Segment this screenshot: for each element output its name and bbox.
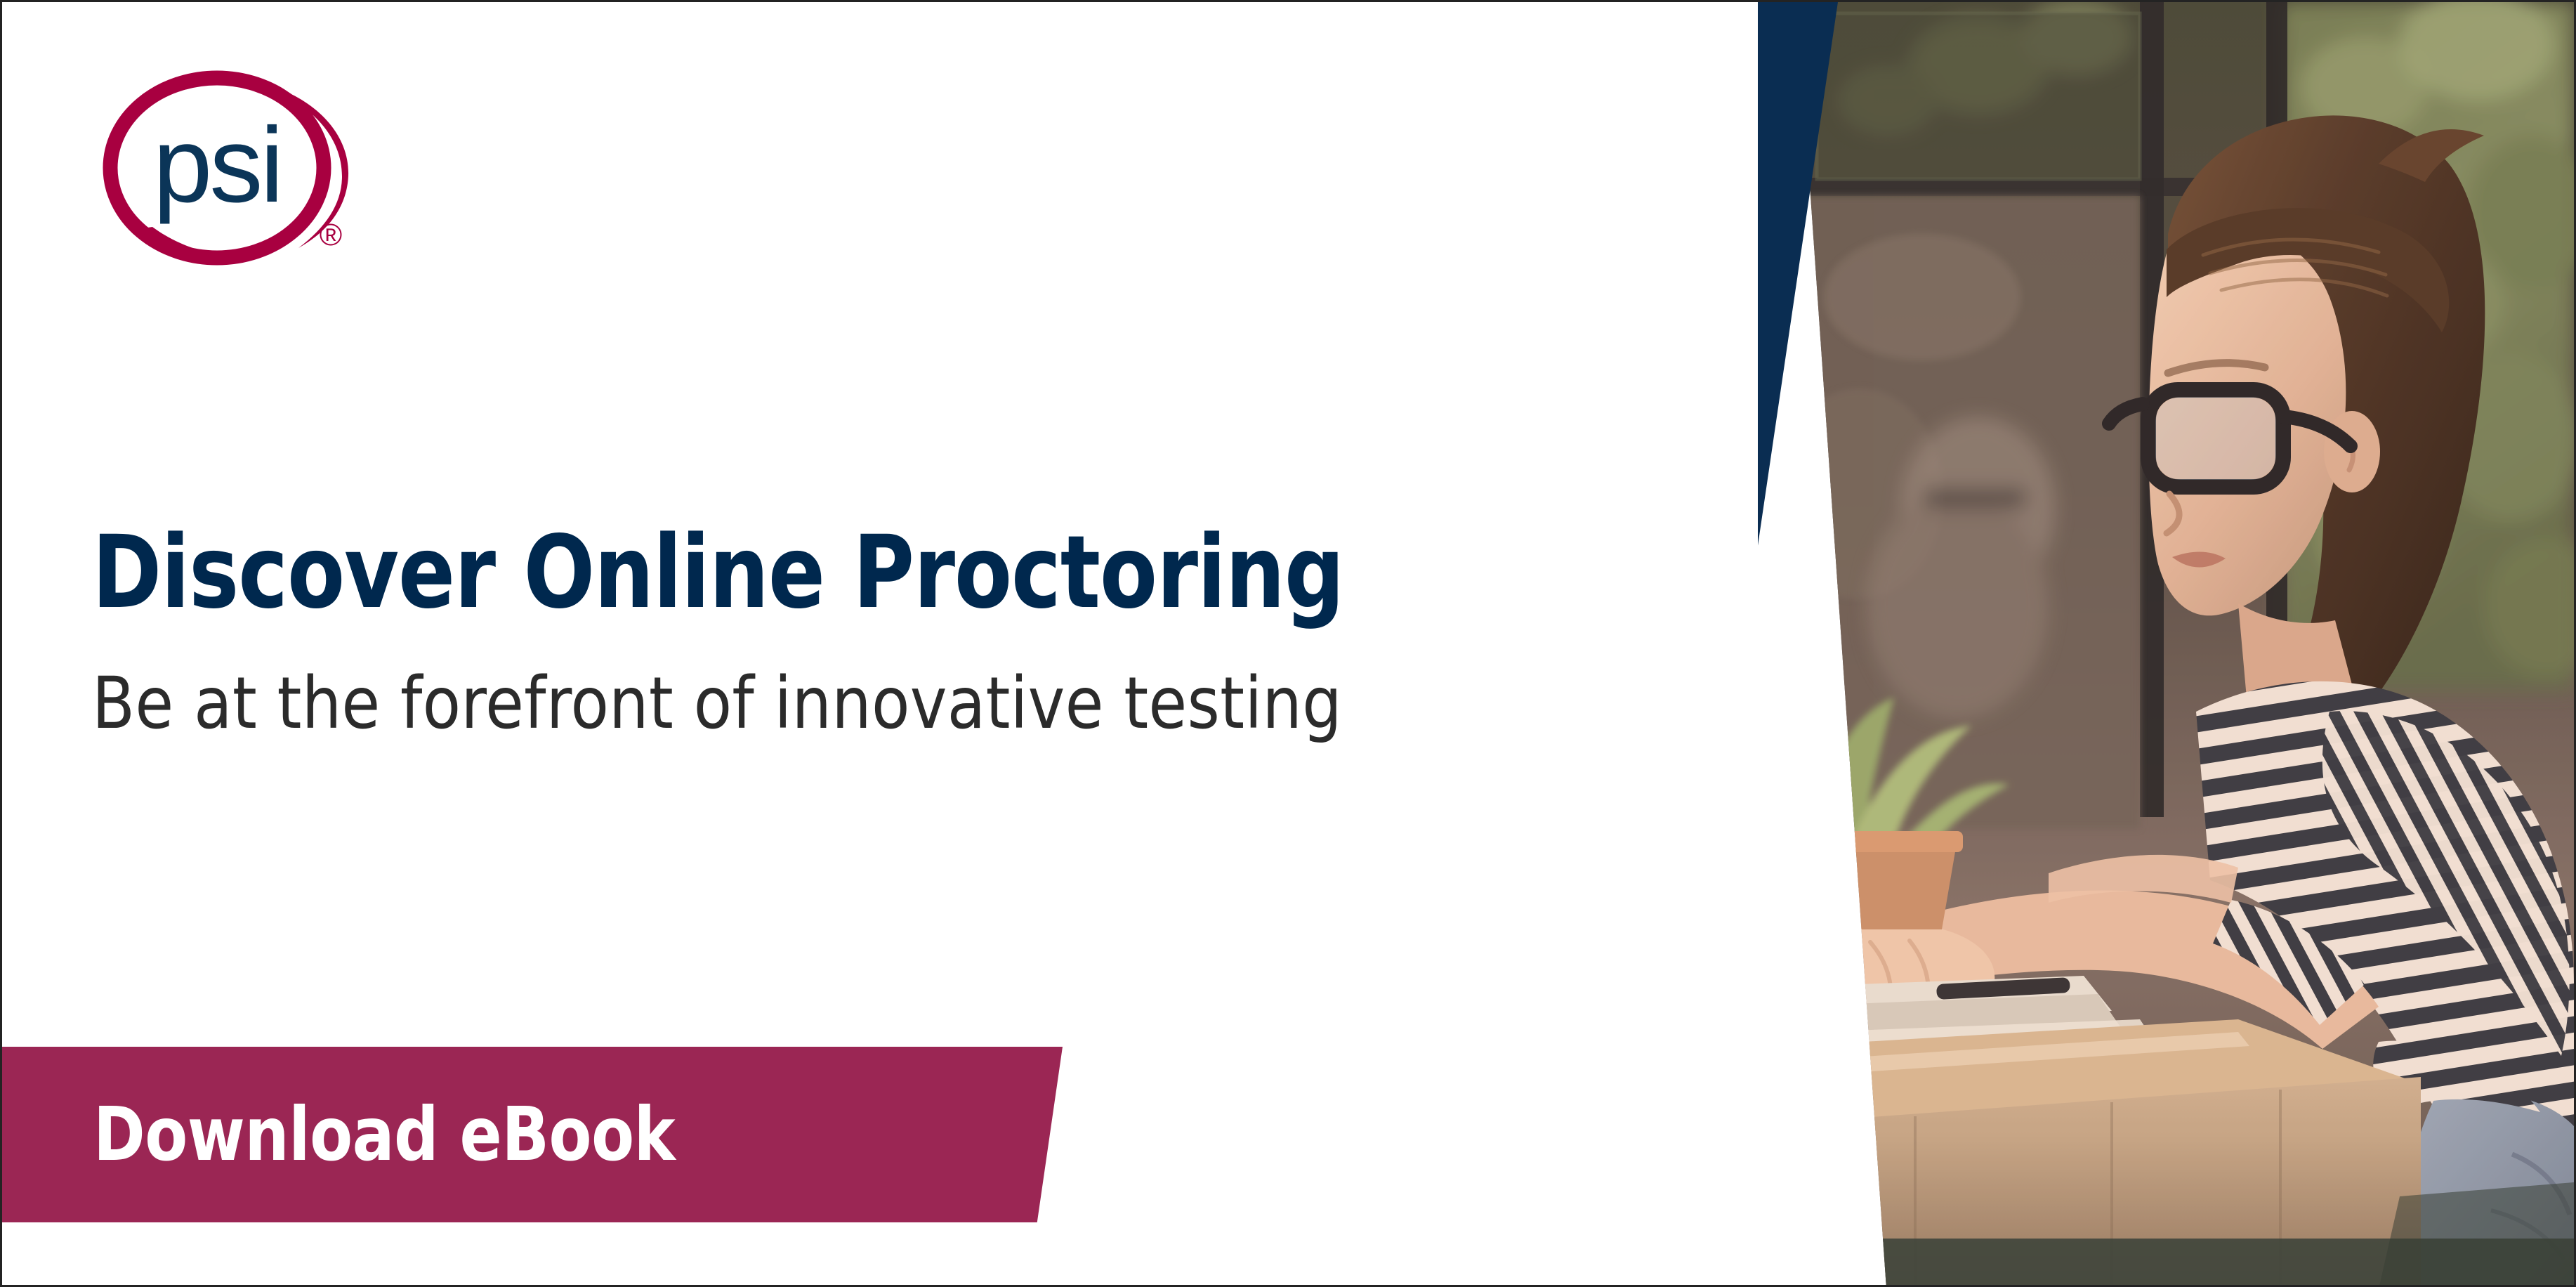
psi-logo-mark: psi ® bbox=[79, 64, 374, 275]
hero-photo bbox=[1747, 2, 2574, 1287]
psi-promo-banner: psi ® Discover Online Proctoring Be at t… bbox=[0, 0, 2576, 1287]
psi-logo[interactable]: psi ® bbox=[79, 64, 374, 275]
hero-photo-illustration bbox=[1747, 2, 2574, 1287]
content-panel: psi ® Discover Online Proctoring Be at t… bbox=[2, 2, 1758, 1285]
headline-block: Discover Online Proctoring Be at the for… bbox=[92, 522, 1672, 741]
page-subtitle: Be at the forefront of innovative testin… bbox=[92, 666, 1625, 741]
logo-registered-icon: ® bbox=[320, 218, 342, 252]
page-title: Discover Online Proctoring bbox=[92, 522, 1562, 622]
logo-wordmark: psi bbox=[153, 105, 281, 225]
download-ebook-button[interactable]: Download eBook bbox=[2, 1047, 1063, 1222]
download-ebook-label: Download eBook bbox=[93, 1092, 675, 1177]
